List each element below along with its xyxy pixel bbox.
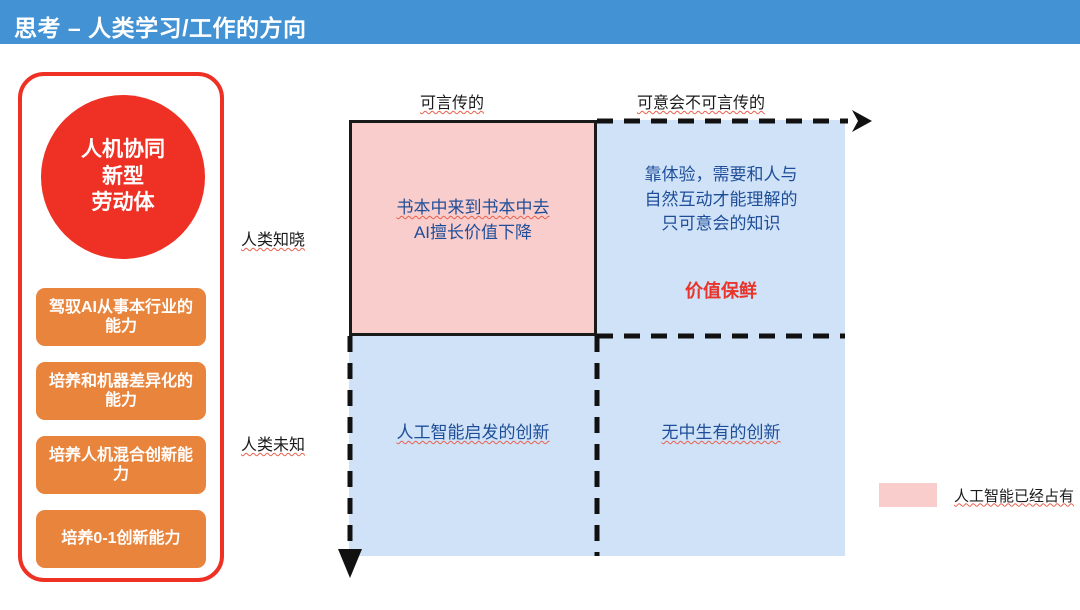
quadrant-bottom-right-text: 无中生有的创新 — [607, 421, 835, 446]
legend-swatch-ai-occupied — [879, 483, 937, 507]
tr-line-2: 自然互动才能理解的 — [645, 190, 798, 209]
page-title: 思考 – 人类学习/工作的方向 — [14, 9, 306, 43]
row-label-known-text: 人类知晓 — [241, 232, 305, 249]
column-header-explicit-label: 可言传的 — [420, 95, 484, 112]
tl-line-2: AI擅长价值下降 — [414, 223, 532, 242]
legend: 人工智能已经占有 — [879, 483, 1074, 507]
tl-line-1: 书本中来到书本中去 — [397, 198, 550, 217]
bl-line-1: 人工智能启发的创新 — [397, 423, 550, 442]
quadrant-top-left-text: 书本中来到书本中去 AI擅长价值下降 — [359, 196, 587, 245]
skill-box-4[interactable]: 培养0-1创新能力 — [36, 510, 206, 568]
quadrant-bottom-left-text: 人工智能启发的创新 — [359, 421, 587, 446]
br-line-1: 无中生有的创新 — [662, 423, 781, 442]
column-header-explicit: 可言传的 — [420, 89, 484, 113]
quadrant-bottom-right-fill — [597, 336, 845, 556]
tr-line-1: 靠体验，需要和人与 — [645, 165, 798, 184]
tr-line-3: 只可意会的知识 — [662, 214, 781, 233]
quadrant-top-right-highlight: 价值保鲜 — [607, 277, 835, 303]
header-bar: 思考 – 人类学习/工作的方向 — [0, 0, 1080, 44]
circle-line-2: 新型 — [102, 164, 144, 191]
axis-right-arrowhead — [852, 110, 872, 132]
legend-label-text: 人工智能已经占有 — [954, 488, 1074, 505]
skill-box-3[interactable]: 培养人机混合创新能力 — [36, 436, 206, 494]
column-header-tacit: 可意会不可言传的 — [637, 89, 765, 113]
quadrant-top-right-text: 靠体验，需要和人与 自然互动才能理解的 只可意会的知识 — [607, 163, 835, 237]
legend-label-ai-occupied: 人工智能已经占有 — [954, 485, 1074, 506]
human-machine-collaboration-circle: 人机协同 新型 劳动体 — [41, 95, 205, 259]
row-label-unknown: 人类未知 — [241, 431, 305, 455]
skill-box-1[interactable]: 驾驭AI从事本行业的能力 — [36, 288, 206, 346]
column-header-tacit-label: 可意会不可言传的 — [637, 95, 765, 112]
row-label-unknown-text: 人类未知 — [241, 437, 305, 454]
row-label-known: 人类知晓 — [241, 226, 305, 250]
quadrant-bottom-left-fill — [349, 336, 597, 556]
skill-box-2[interactable]: 培养和机器差异化的能力 — [36, 362, 206, 420]
circle-line-1: 人机协同 — [81, 137, 165, 164]
circle-line-3: 劳动体 — [92, 190, 155, 217]
